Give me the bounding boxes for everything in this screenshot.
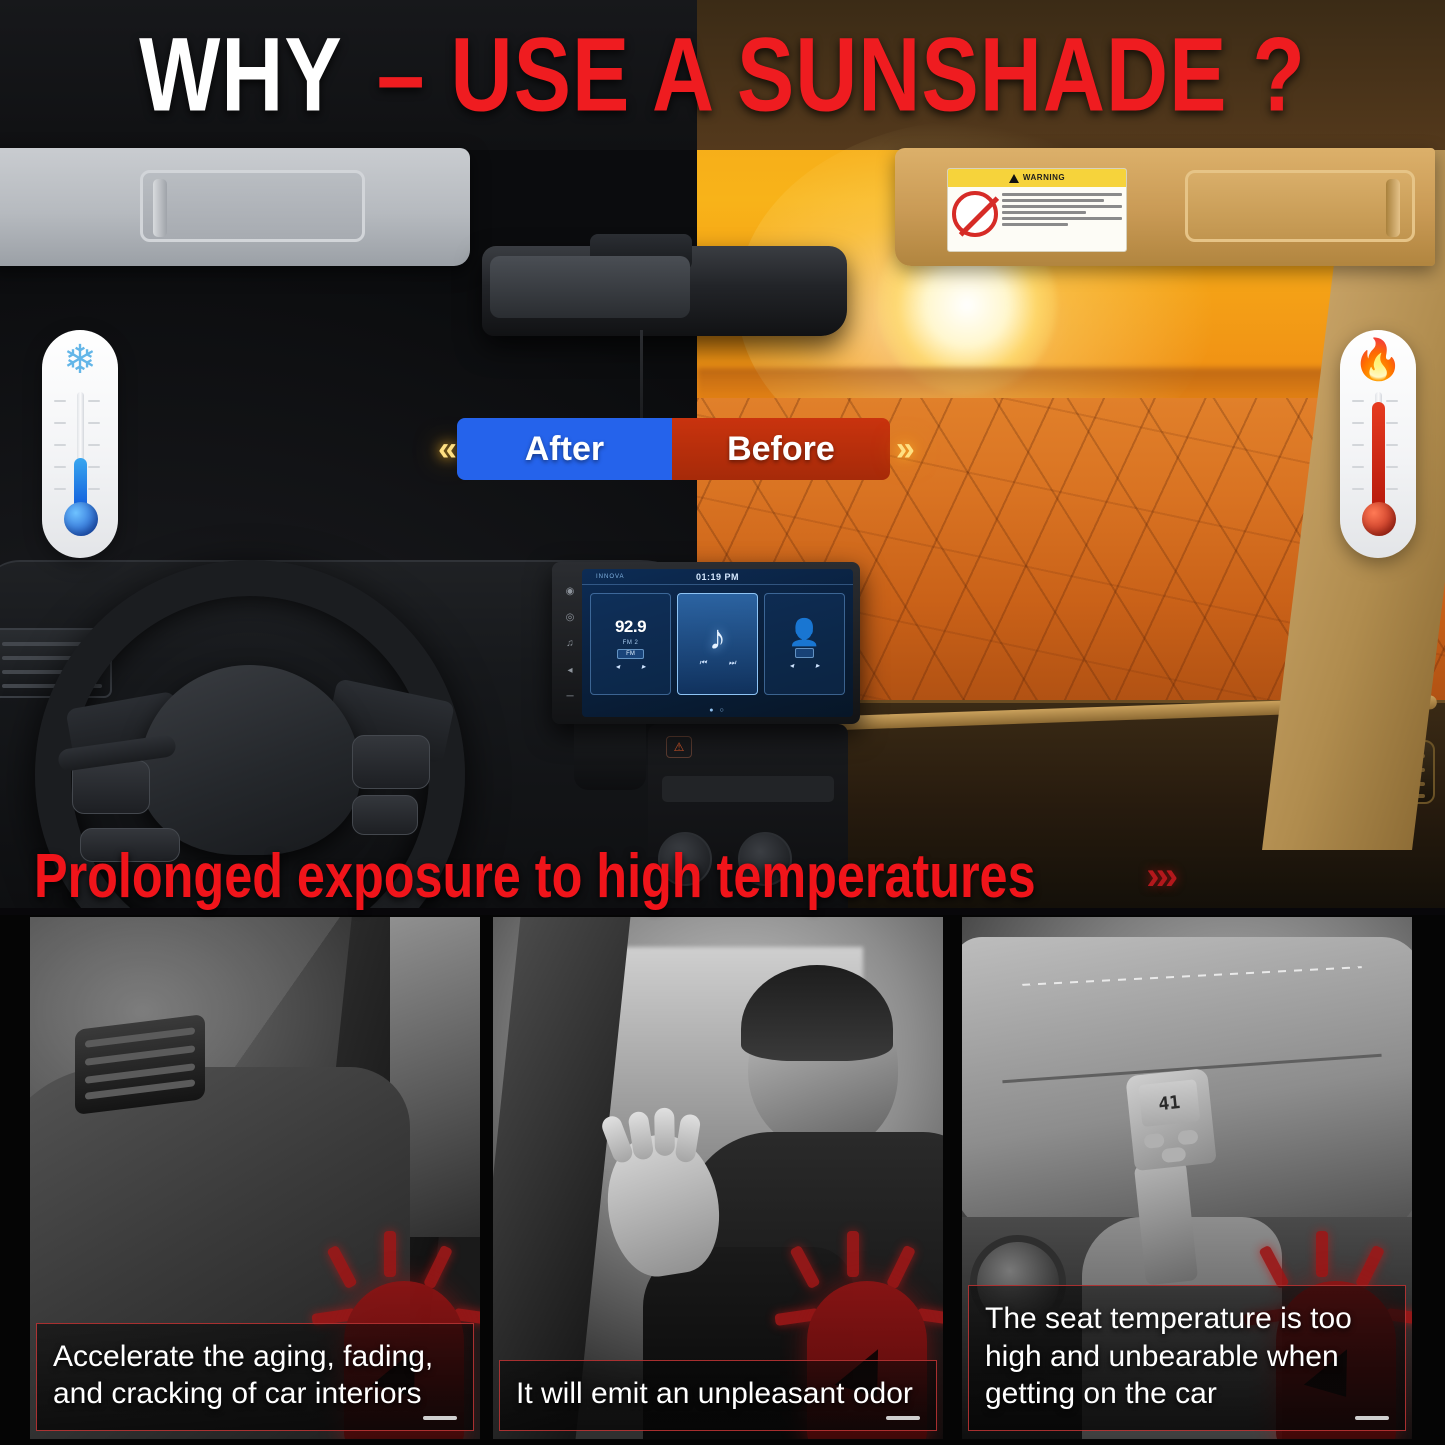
infotainment-screen[interactable]: INNOVA 01:19 PM 92.9 FM 2 FM ◂ ▸ ♪ <box>582 569 853 717</box>
home-button-icon[interactable]: ◎ <box>566 612 575 623</box>
infrared-thermometer: 41 <box>1125 1068 1216 1171</box>
phone-prev-icon[interactable]: ◂ <box>789 661 793 670</box>
flame-icon: 🔥 <box>1340 340 1416 380</box>
dashboard-defroster-vent <box>75 1014 205 1115</box>
panel-caption-text: It will emit an unpleasant odor <box>516 1375 920 1412</box>
warning-sticker-label: WARNING <box>1023 172 1065 184</box>
panel-caption: The seat temperature is too high and unb… <box>968 1285 1406 1431</box>
no-child-seat-icon <box>952 191 998 237</box>
thermometer-fill-hot <box>1372 402 1385 518</box>
thermometer-ticks-cold-right <box>88 400 106 510</box>
panel-caption: Accelerate the aging, fading, and cracki… <box>36 1323 474 1431</box>
title-use-a-sunshade: – USE A SUNSHADE ? <box>377 23 1306 128</box>
panel-hot-seat: 41 The seat temperature is too high and … <box>962 917 1412 1439</box>
warning-sticker-text-lines <box>1002 191 1122 237</box>
volume-icon[interactable]: ♫ <box>566 638 574 649</box>
phone-arrows[interactable]: ◂ ▸ <box>789 661 819 670</box>
airbag-warning-sticker: WARNING <box>947 168 1127 252</box>
chevron-right-triple-icon: ››› <box>1146 854 1174 899</box>
music-note-icon: ♪ <box>709 621 726 655</box>
warning-sticker-header: WARNING <box>948 169 1126 187</box>
rearview-mirror <box>482 246 847 336</box>
thermometer-ticks-cold <box>54 400 72 510</box>
caption-underscore <box>1355 1416 1389 1420</box>
head-unit-brand: INNOVA <box>596 574 625 580</box>
ir-button-2[interactable] <box>1177 1129 1198 1145</box>
head-unit-clock: 01:19 PM <box>696 572 739 582</box>
steering-buttons-right <box>352 735 430 789</box>
rearview-mirror-face <box>490 256 690 318</box>
thermometer-bulb-cold <box>64 502 98 536</box>
thermometer-bulb-hot <box>1362 502 1396 536</box>
panel-unpleasant-odor: It will emit an unpleasant odor <box>493 917 943 1439</box>
head-unit-tiles: 92.9 FM 2 FM ◂ ▸ ♪ ⏮ ⏭ <box>582 585 853 695</box>
thermometer-ticks-hot-right <box>1386 400 1404 510</box>
phone-tile[interactable]: 👤 ◂ ▸ <box>764 593 845 695</box>
warning-triangle-icon <box>1009 174 1019 183</box>
caption-underscore <box>423 1416 457 1420</box>
media-transport-controls[interactable]: ⏮ ⏭ <box>699 658 735 668</box>
warning-sticker-body <box>948 187 1126 241</box>
radio-tile[interactable]: 92.9 FM 2 FM ◂ ▸ <box>590 593 671 695</box>
panel-caption-text: The seat temperature is too high and unb… <box>985 1300 1389 1412</box>
page-title: WHY – USE A SUNSHADE ? <box>0 0 1445 150</box>
back-button-icon[interactable]: ◂ <box>567 665 572 676</box>
chevron-right-icon: » <box>890 432 915 466</box>
thermometer-cold: ❄ <box>42 330 118 558</box>
phone-chip[interactable] <box>795 648 815 658</box>
media-next-icon[interactable]: ⏭ <box>729 658 736 668</box>
ir-thermometer-display: 41 <box>1138 1079 1200 1127</box>
person-icon: 👤 <box>788 619 820 645</box>
visor-mirror-right <box>1185 170 1415 242</box>
head-unit-status-bar: INNOVA 01:19 PM <box>582 569 853 585</box>
caption-underscore <box>886 1416 920 1420</box>
visor-mirror-left <box>140 170 365 242</box>
before-label: Before <box>672 418 890 480</box>
radio-prev-icon[interactable]: ◂ <box>615 662 619 671</box>
mid-headline-text: Prolonged exposure to high temperatures <box>34 845 1036 908</box>
infotainment-head-unit[interactable]: ◉ ◎ ♫ ◂ ─ INNOVA 01:19 PM 92.9 FM 2 FM <box>552 562 860 724</box>
radio-next-icon[interactable]: ▸ <box>642 662 646 671</box>
climate-control-row <box>662 776 834 802</box>
radio-frequency: 92.9 <box>615 617 646 637</box>
media-tile[interactable]: ♪ ⏮ ⏭ <box>677 593 758 695</box>
head-unit-mount <box>574 722 646 790</box>
before-after-badge: « After Before » <box>432 418 915 480</box>
radio-band: FM 2 <box>623 640 639 646</box>
sunshade-marketing-poster: WARNING ⚠ <box>0 0 1445 1445</box>
hazard-light-button[interactable]: ⚠ <box>666 736 692 758</box>
screen-page-dots: ● ○ <box>582 707 853 714</box>
after-label: After <box>457 418 672 480</box>
radio-seek-arrows[interactable]: ◂ ▸ <box>615 662 645 671</box>
phone-next-icon[interactable]: ▸ <box>816 661 820 670</box>
menu-icon[interactable]: ─ <box>566 691 573 702</box>
title-why: WHY <box>139 23 343 128</box>
steering-buttons-right-lower <box>352 795 418 835</box>
radio-preset-chip[interactable]: FM <box>617 649 644 659</box>
thermometer-hot: 🔥 <box>1340 330 1416 558</box>
chevron-left-icon: « <box>432 432 457 466</box>
thermometer-ticks-hot <box>1352 400 1370 510</box>
head-unit-side-buttons[interactable]: ◉ ◎ ♫ ◂ ─ <box>560 578 580 710</box>
ir-button-3[interactable] <box>1161 1147 1186 1163</box>
sun-visor-left <box>0 148 470 266</box>
power-button-icon[interactable]: ◉ <box>566 586 575 597</box>
snowflake-icon: ❄ <box>42 340 118 380</box>
mid-headline: Prolonged exposure to high temperatures … <box>34 840 1334 912</box>
consequences-panels: Accelerate the aging, fading, and cracki… <box>0 915 1445 1445</box>
panel-aging-interiors: Accelerate the aging, fading, and cracki… <box>30 917 480 1439</box>
panel-caption-text: Accelerate the aging, fading, and cracki… <box>53 1338 457 1412</box>
media-prev-icon[interactable]: ⏮ <box>699 658 706 668</box>
panel-caption: It will emit an unpleasant odor <box>499 1360 937 1431</box>
ir-button-1[interactable] <box>1143 1133 1164 1149</box>
